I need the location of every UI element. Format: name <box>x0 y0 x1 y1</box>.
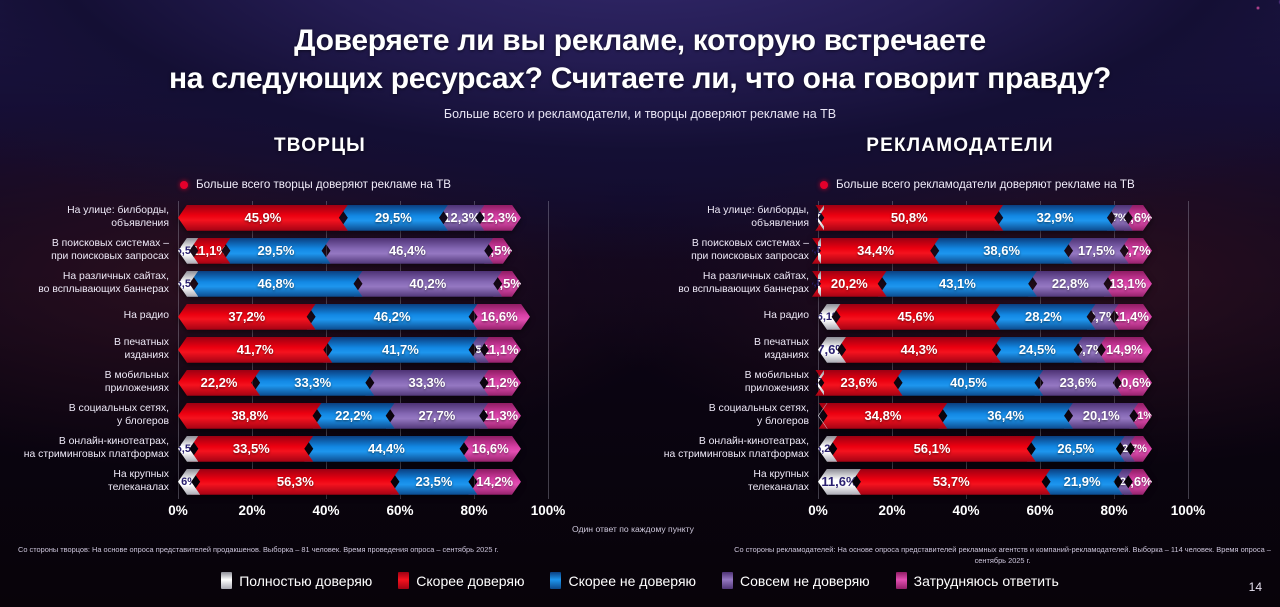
page-title-line-2: на следующих ресурсах? Считаете ли, что … <box>0 60 1280 98</box>
xaxis-tick-label: 20% <box>878 503 905 518</box>
bar-segment-value: 23,6% <box>839 375 880 390</box>
bar-segment-value: 23,6% <box>1058 375 1099 390</box>
bar-segment-value: 29,5% <box>256 243 297 258</box>
bar-segment-blue: 40,5% <box>894 370 1044 396</box>
chart-row: На радио6,1%45,6%28,2%8,7%11,4% <box>640 300 1280 333</box>
bar-segment-value: 37,2% <box>226 309 267 324</box>
row-category-label: На крупных телеканалах <box>0 469 178 494</box>
chart-panels: ТВОРЦЫ Больше всего творцы доверяют рекл… <box>0 135 1280 523</box>
legend-swatch-purple <box>722 572 733 589</box>
stacked-bar: 45,9%29,5%12,3%12,3% <box>178 205 548 231</box>
bar-segment-red: 45,6% <box>832 304 1001 330</box>
bar-segment-blue: 24,5% <box>992 337 1083 363</box>
bar-segment-value: 56,3% <box>275 474 316 489</box>
legend-swatch-blue <box>550 572 561 589</box>
bar-segment-red: 38,8% <box>178 403 322 429</box>
legend-item: Полностью доверяю <box>221 572 372 589</box>
bar-segment-value: 13,1% <box>1107 276 1148 291</box>
bar-segment-purple: 20,1% <box>1064 403 1138 429</box>
bar-segment-value: 7% <box>1110 212 1130 224</box>
bar-segment-value: 33,3% <box>292 375 333 390</box>
panel-note-label: Больше всего творцы доверяют рекламе на … <box>196 178 451 191</box>
bar-segment-white: 5,2% <box>818 436 837 462</box>
bar-segment-value: 7% <box>1129 443 1149 455</box>
xaxis-tick-label: 40% <box>312 503 339 518</box>
chart-row: На улице: билборды, объявления45,9%29,5%… <box>0 201 640 234</box>
bar-segment-value: 24,5% <box>1017 342 1058 357</box>
bar-segment-blue: 43,1% <box>878 271 1037 297</box>
bar-segment-value: 43,1% <box>937 276 978 291</box>
stacked-bar: 7,6%44,3%24,5%8,7%14,9% <box>818 337 1188 363</box>
row-category-label: На крупных телеканалах <box>640 469 818 494</box>
bar-segment-red: 56,3% <box>191 469 399 495</box>
chart-row: На различных сайтах, во всплывающих банн… <box>640 267 1280 300</box>
bar-segment-red: 22,2% <box>178 370 260 396</box>
bar-segment-red: 50,8% <box>815 205 1003 231</box>
bar-segment-red: 37,2% <box>178 304 316 330</box>
xaxis-tick-label: 60% <box>1026 503 1053 518</box>
bar-segment-pink: 14,9% <box>1097 337 1152 363</box>
row-category-label: На улице: билборды, объявления <box>0 205 178 230</box>
bar-segment-purple: 23,6% <box>1034 370 1121 396</box>
footnote-creators: Со стороны творцов: На основе опроса пре… <box>18 545 578 556</box>
bar-segment-value: 12,3% <box>441 210 482 225</box>
bar-segment-value: 17,5% <box>1076 243 1117 258</box>
row-category-label: На радио <box>640 310 818 322</box>
row-category-label: В мобильных приложениях <box>0 370 178 395</box>
legend-item: Скорее не доверяю <box>550 572 696 589</box>
stacked-bar: 38,8%22,2%27,7%11,3% <box>178 403 548 429</box>
chart-row: В мобильных приложениях1,7%23,6%40,5%23,… <box>640 366 1280 399</box>
legend-item: Скорее доверяю <box>398 572 524 589</box>
bar-segment-purple: 17,5% <box>1064 238 1129 264</box>
bar-segment-white: 0,8% <box>818 271 821 297</box>
row-category-label: В социальных сетях, у блогеров <box>0 403 178 428</box>
bar-segment-blue: 29,5% <box>339 205 448 231</box>
stacked-bar: 6,1%45,6%28,2%8,7%11,4% <box>818 304 1188 330</box>
bar-segment-white: 6,1% <box>818 304 841 330</box>
legend-swatch-pink <box>896 572 907 589</box>
bar-segment-blue: 29,5% <box>221 238 330 264</box>
bar-segment-blue: 28,2% <box>991 304 1095 330</box>
bar-segment-value: 22,8% <box>1050 276 1091 291</box>
bar-segment-value: 10,6% <box>1112 375 1153 390</box>
chart-row: В печатных изданиях41,7%41,7%5,5%11,1% <box>0 333 640 366</box>
chart-creators: На улице: билборды, объявления45,9%29,5%… <box>0 201 640 523</box>
bar-segment-value: 14,9% <box>1104 342 1145 357</box>
panel-advertisers: РЕКЛАМОДАТЕЛИ Больше всего рекламодатели… <box>640 135 1280 523</box>
bar-segment-pink: 14,2% <box>468 469 521 495</box>
chart-row: На крупных телеканалах11,6%53,7%21,9%5,2… <box>640 465 1280 498</box>
bar-segment-value: 22,2% <box>333 408 374 423</box>
stacked-bar: 5,2%56,1%26,5%5,2%7% <box>818 436 1188 462</box>
panel-title-advertisers: РЕКЛАМОДАТЕЛИ <box>640 135 1280 157</box>
bar-segment-pink: 12,3% <box>475 205 521 231</box>
bar-segment-value: 11,1% <box>480 342 520 357</box>
bar-segment-value: 11,1% <box>190 243 230 258</box>
stacked-bar: 37,2%46,2%16,6% <box>178 304 548 330</box>
bar-segment-white: 5,5% <box>178 238 198 264</box>
row-category-label: На улице: билборды, объявления <box>640 205 818 230</box>
chart-legend: Полностью доверяюСкорее доверяюСкорее не… <box>0 572 1280 589</box>
legend-item: Совсем не доверяю <box>722 572 870 589</box>
bar-segment-value: 11,3% <box>480 408 520 423</box>
bar-segment-white: 5,5% <box>178 436 198 462</box>
bar-segment-red: 34,8% <box>819 403 948 429</box>
stacked-bar: 1,7%23,6%40,5%23,6%10,6% <box>818 370 1188 396</box>
row-category-label: На различных сайтах, во всплывающих банн… <box>640 271 818 296</box>
bar-segment-purple: 40,2% <box>354 271 503 297</box>
stacked-bar: 5,5%11,1%29,5%46,4%7,5% <box>178 238 548 264</box>
panel-note-advertisers: Больше всего рекламодатели доверяют рекл… <box>640 178 1280 191</box>
bar-segment-value: 38,8% <box>229 408 270 423</box>
chart-rows-creators: На улице: билборды, объявления45,9%29,5%… <box>0 201 640 498</box>
bar-segment-value: 16,6% <box>470 441 511 456</box>
stacked-bar: 1,7%50,8%32,9%7%7,6% <box>818 205 1188 231</box>
bar-segment-blue: 33,3% <box>251 370 374 396</box>
bar-segment-value: 29,5% <box>373 210 414 225</box>
bar-segment-value: 34,8% <box>863 408 904 423</box>
bar-segment-red: 41,7% <box>178 337 332 363</box>
chart-row: В мобильных приложениях22,2%33,3%33,3%11… <box>0 366 640 399</box>
bar-segment-white: 11,6% <box>818 469 861 495</box>
bar-segment-value: 11,6% <box>819 474 859 489</box>
legend-label: Скорее не доверяю <box>568 573 696 589</box>
legend-label: Скорее доверяю <box>416 573 524 589</box>
bar-segment-blue: 38,6% <box>930 238 1073 264</box>
stacked-bar: 2,6%34,8%36,4%20,1%6,1% <box>818 403 1188 429</box>
bar-segment-value: 40,2% <box>407 276 448 291</box>
bar-segment-value: 41,7% <box>235 342 276 357</box>
chart-xaxis-advertisers: 0%20%40%60%80%100% <box>818 503 1188 523</box>
bar-segment-value: 32,9% <box>1035 210 1076 225</box>
bar-segment-value: 27,7% <box>416 408 457 423</box>
bar-segment-white: 5,5% <box>178 271 198 297</box>
bar-segment-purple: 22,8% <box>1028 271 1112 297</box>
legend-swatch-white <box>221 572 232 589</box>
xaxis-tick-label: 100% <box>531 503 566 518</box>
chart-row: В социальных сетях, у блогеров2,6%34,8%3… <box>640 399 1280 432</box>
chart-row: На радио37,2%46,2%16,6% <box>0 300 640 333</box>
bar-segment-value: 22,2% <box>199 375 240 390</box>
bar-segment-value: 33,3% <box>406 375 447 390</box>
panel-creators: ТВОРЦЫ Больше всего творцы доверяют рекл… <box>0 135 640 523</box>
row-category-label: На различных сайтах, во всплывающих банн… <box>0 271 178 296</box>
chart-xaxis-creators: 0%20%40%60%80%100% <box>178 503 548 523</box>
bar-segment-blue: 23,5% <box>390 469 477 495</box>
chart-rows-advertisers: На улице: билборды, объявления1,7%50,8%3… <box>640 201 1280 498</box>
bar-segment-blue: 46,2% <box>307 304 478 330</box>
chart-row: В онлайн-кинотеатрах, на стриминговых пл… <box>0 432 640 465</box>
bar-segment-value: 53,7% <box>931 474 972 489</box>
row-category-label: В онлайн-кинотеатрах, на стриминговых пл… <box>640 436 818 461</box>
panel-note-label: Больше всего рекламодатели доверяют рекл… <box>836 178 1135 191</box>
bar-segment-blue: 32,9% <box>994 205 1116 231</box>
xaxis-tick-label: 100% <box>1171 503 1206 518</box>
bar-segment-value: 44,4% <box>366 441 407 456</box>
bar-segment-blue: 44,4% <box>304 436 468 462</box>
bar-segment-white: 6% <box>178 469 200 495</box>
bar-segment-value: 14,2% <box>474 474 515 489</box>
single-answer-note: Один ответ по каждому пункту <box>572 524 694 534</box>
bar-segment-blue: 46,8% <box>189 271 362 297</box>
chart-advertisers: На улице: билборды, объявления1,7%50,8%3… <box>640 201 1280 523</box>
xaxis-tick-label: 80% <box>1100 503 1127 518</box>
bar-segment-blue: 22,2% <box>313 403 395 429</box>
xaxis-tick-label: 40% <box>952 503 979 518</box>
panel-title-creators: ТВОРЦЫ <box>0 135 640 157</box>
chart-row: В социальных сетях, у блогеров38,8%22,2%… <box>0 399 640 432</box>
legend-item: Затрудняюсь ответить <box>896 572 1059 589</box>
bullet-dot-icon <box>180 181 188 189</box>
row-category-label: В мобильных приложениях <box>640 370 818 395</box>
legend-label: Совсем не доверяю <box>740 573 870 589</box>
bar-segment-red: 20,2% <box>812 271 887 297</box>
stacked-bar: 6%56,3%23,5%14,2% <box>178 469 548 495</box>
chart-row: В онлайн-кинотеатрах, на стриминговых пл… <box>640 432 1280 465</box>
row-category-label: В поисковых системах – при поисковых зап… <box>640 238 818 263</box>
bar-segment-pink: 16,6% <box>460 436 521 462</box>
bar-segment-value: 12,3% <box>478 210 519 225</box>
stacked-bar: 0,8%20,2%43,1%22,8%13,1% <box>818 271 1188 297</box>
bar-segment-red: 33,5% <box>189 436 313 462</box>
bar-segment-red: 44,3% <box>837 337 1001 363</box>
bar-segment-blue: 36,4% <box>938 403 1073 429</box>
row-category-label: В онлайн-кинотеатрах, на стриминговых пл… <box>0 436 178 461</box>
bar-segment-white: 0,8% <box>818 238 821 264</box>
bar-segment-pink: 13,1% <box>1104 271 1152 297</box>
stacked-bar: 5,5%46,8%40,2%7,5% <box>178 271 548 297</box>
page-subtitle: Больше всего и рекламодатели, и творцы д… <box>0 107 1280 121</box>
bar-segment-value: 50,8% <box>889 210 930 225</box>
bar-segment-value: 45,9% <box>242 210 283 225</box>
row-category-label: В печатных изданиях <box>0 337 178 362</box>
bar-segment-value: 11,4% <box>1111 309 1151 324</box>
bar-segment-blue: 26,5% <box>1027 436 1125 462</box>
bar-segment-pink: 11,4% <box>1110 304 1152 330</box>
bullet-dot-icon <box>820 181 828 189</box>
xaxis-tick-label: 60% <box>386 503 413 518</box>
bar-segment-purple: 27,7% <box>386 403 488 429</box>
stacked-bar: 22,2%33,3%33,3%11,2% <box>178 370 548 396</box>
bar-segment-value: 21,9% <box>1062 474 1103 489</box>
bar-segment-value: 46,4% <box>387 243 428 258</box>
bar-segment-red: 45,9% <box>178 205 348 231</box>
xaxis-tick-label: 20% <box>238 503 265 518</box>
bar-segment-red: 56,1% <box>828 436 1036 462</box>
stacked-bar: 11,6%53,7%21,9%5,2%7,6% <box>818 469 1188 495</box>
page-title-line-1: Доверяете ли вы рекламе, которую встреча… <box>0 22 1280 60</box>
chart-row: В поисковых системах – при поисковых зап… <box>640 234 1280 267</box>
chart-row: На улице: билборды, объявления1,7%50,8%3… <box>640 201 1280 234</box>
bar-segment-value: 44,3% <box>899 342 940 357</box>
stacked-bar: 5,5%33,5%44,4%16,6% <box>178 436 548 462</box>
bar-segment-value: 6% <box>179 476 199 488</box>
panel-note-creators: Больше всего творцы доверяют рекламе на … <box>0 178 640 191</box>
bar-segment-value: 26,5% <box>1055 441 1096 456</box>
bar-segment-white: 7,6% <box>818 337 846 363</box>
bar-segment-value: 36,4% <box>985 408 1026 423</box>
slide-header: Доверяете ли вы рекламе, которую встреча… <box>0 0 1280 121</box>
bar-segment-value: 8,7% <box>1086 309 1120 324</box>
bar-segment-value: 33,5% <box>231 441 272 456</box>
stacked-bar: 41,7%41,7%5,5%11,1% <box>178 337 548 363</box>
bar-segment-blue: 21,9% <box>1042 469 1123 495</box>
xaxis-tick-label: 80% <box>460 503 487 518</box>
bar-segment-purple: 33,3% <box>365 370 488 396</box>
bar-segment-value: 41,7% <box>380 342 421 357</box>
bar-segment-purple: 12,3% <box>439 205 485 231</box>
bar-segment-value: 56,1% <box>912 441 953 456</box>
bar-segment-value: 11,2% <box>480 375 520 390</box>
bar-segment-value: 20,2% <box>829 276 870 291</box>
bar-segment-value: 34,4% <box>855 243 896 258</box>
bar-segment-value: 23,5% <box>414 474 455 489</box>
legend-swatch-red <box>398 572 409 589</box>
bar-segment-red: 53,7% <box>852 469 1051 495</box>
page-number: 14 <box>1249 580 1262 594</box>
bar-segment-value: 16,6% <box>479 309 520 324</box>
bar-segment-value: 28,2% <box>1023 309 1064 324</box>
slide-page: Доверяете ли вы рекламе, которую встреча… <box>0 0 1280 607</box>
row-category-label: В социальных сетях, у блогеров <box>640 403 818 428</box>
bar-segment-value: 8,7% <box>1119 243 1153 258</box>
chart-row: В печатных изданиях7,6%44,3%24,5%8,7%14,… <box>640 333 1280 366</box>
bar-segment-value: 20,1% <box>1081 408 1122 423</box>
bar-segment-pink: 16,6% <box>469 304 530 330</box>
bar-segment-blue: 41,7% <box>323 337 477 363</box>
xaxis-tick-label: 0% <box>168 503 188 518</box>
xaxis-tick-label: 0% <box>808 503 828 518</box>
bar-segment-value: 45,6% <box>895 309 936 324</box>
row-category-label: В поисковых системах – при поисковых зап… <box>0 238 178 263</box>
legend-label: Полностью доверяю <box>239 573 372 589</box>
bar-segment-red: 34,4% <box>812 238 939 264</box>
legend-label: Затрудняюсь ответить <box>914 573 1059 589</box>
bar-segment-red: 23,6% <box>815 370 902 396</box>
footnote-advertisers: Со стороны рекламодателей: На основе опр… <box>730 545 1275 566</box>
row-category-label: На радио <box>0 310 178 322</box>
bar-segment-purple: 46,4% <box>322 238 494 264</box>
bar-segment-value: 46,8% <box>255 276 296 291</box>
chart-row: На крупных телеканалах6%56,3%23,5%14,2% <box>0 465 640 498</box>
chart-row: В поисковых системах – при поисковых зап… <box>0 234 640 267</box>
bar-segment-value: 8,7% <box>1073 342 1107 357</box>
bar-segment-value: 38,6% <box>981 243 1022 258</box>
chart-row: На различных сайтах, во всплывающих банн… <box>0 267 640 300</box>
bar-segment-value: 40,5% <box>948 375 989 390</box>
row-category-label: В печатных изданиях <box>640 337 818 362</box>
stacked-bar: 0,8%34,4%38,6%17,5%8,7% <box>818 238 1188 264</box>
bar-segment-value: 46,2% <box>372 309 413 324</box>
